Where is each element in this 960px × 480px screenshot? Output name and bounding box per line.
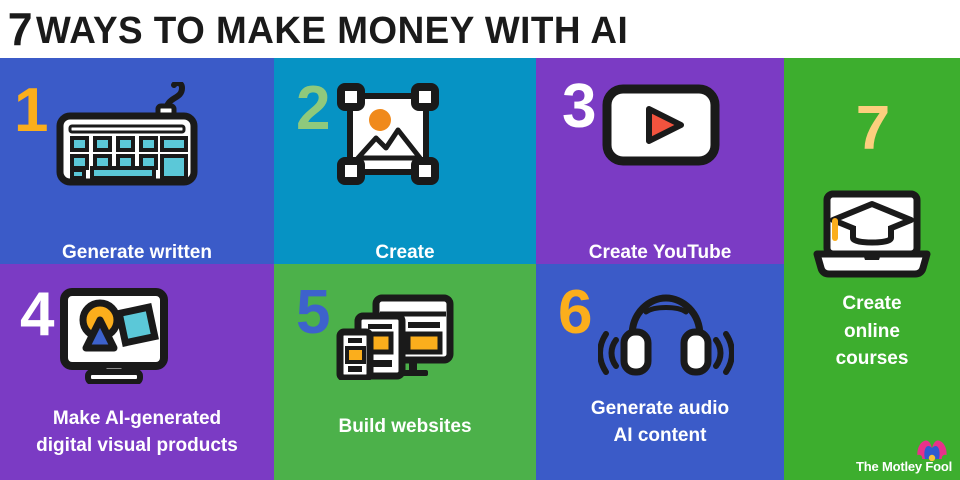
card-6-number: 6 bbox=[558, 284, 590, 341]
card-2-caption: Create AI-generated art bbox=[274, 240, 536, 264]
card-3-number: 3 bbox=[562, 78, 594, 135]
card-5-caption: Build websites bbox=[274, 414, 536, 441]
header: 7WAYS TO MAKE MONEY WITH AI bbox=[0, 0, 960, 58]
youtube-play-icon bbox=[602, 84, 720, 171]
keyboard-icon bbox=[54, 82, 200, 193]
card-7-number: 7 bbox=[856, 94, 888, 163]
card-6-header: 6 bbox=[558, 284, 734, 385]
motley-fool-logo-text: The Motley Fool bbox=[856, 460, 952, 474]
monitor-shapes-icon bbox=[60, 288, 168, 389]
card-6-caption: Generate audio AI content bbox=[536, 396, 784, 450]
card-2-header: 2 bbox=[296, 80, 440, 191]
responsive-devices-icon bbox=[336, 294, 454, 385]
infographic-root: 7WAYS TO MAKE MONEY WITH AI 1 bbox=[0, 0, 960, 480]
card-2-number: 2 bbox=[296, 80, 328, 137]
image-art-icon bbox=[336, 82, 440, 191]
card-7-caption: Create online courses bbox=[784, 290, 960, 373]
title-rest: WAYS TO MAKE MONEY WITH AI bbox=[36, 10, 628, 52]
card-1-caption: Generate written AI content bbox=[0, 240, 274, 264]
card-4-make-ai-generated-digital-visual-products[interactable]: 4 Make AI-generated digital visual produ… bbox=[0, 264, 274, 480]
card-4-header: 4 bbox=[20, 286, 168, 389]
page-title: 7WAYS TO MAKE MONEY WITH AI bbox=[0, 6, 628, 52]
cards-grid: 1 bbox=[0, 58, 960, 480]
card-4-number: 4 bbox=[20, 286, 52, 343]
laptop-graduation-cap-icon bbox=[784, 190, 960, 285]
jester-hat-icon bbox=[915, 439, 949, 461]
card-3-caption: Create YouTube videos bbox=[536, 240, 784, 264]
card-6-generate-audio-ai-content[interactable]: 6 Generate audio AI content bbox=[536, 264, 784, 480]
card-4-caption: Make AI-generated digital visual product… bbox=[0, 406, 274, 460]
card-3-header: 3 bbox=[562, 78, 720, 171]
card-1-header: 1 bbox=[14, 82, 200, 193]
title-lead-number: 7 bbox=[8, 3, 33, 55]
card-5-header: 5 bbox=[296, 284, 454, 385]
card-5-build-websites[interactable]: 5 bbox=[274, 264, 536, 480]
card-7-header: 7 bbox=[784, 100, 960, 157]
card-5-number: 5 bbox=[296, 284, 328, 341]
card-2-create-ai-generated-art[interactable]: 2 Create AI-generated art bbox=[274, 58, 536, 264]
headphones-icon bbox=[598, 288, 734, 385]
motley-fool-logo: The Motley Fool bbox=[856, 460, 952, 474]
card-1-number: 1 bbox=[14, 82, 46, 139]
card-1-generate-written-ai-content[interactable]: 1 bbox=[0, 58, 274, 264]
card-3-create-youtube-videos[interactable]: 3 Create YouTube videos bbox=[536, 58, 784, 264]
card-7-create-online-courses[interactable]: 7 Create online courses bbox=[784, 58, 960, 480]
